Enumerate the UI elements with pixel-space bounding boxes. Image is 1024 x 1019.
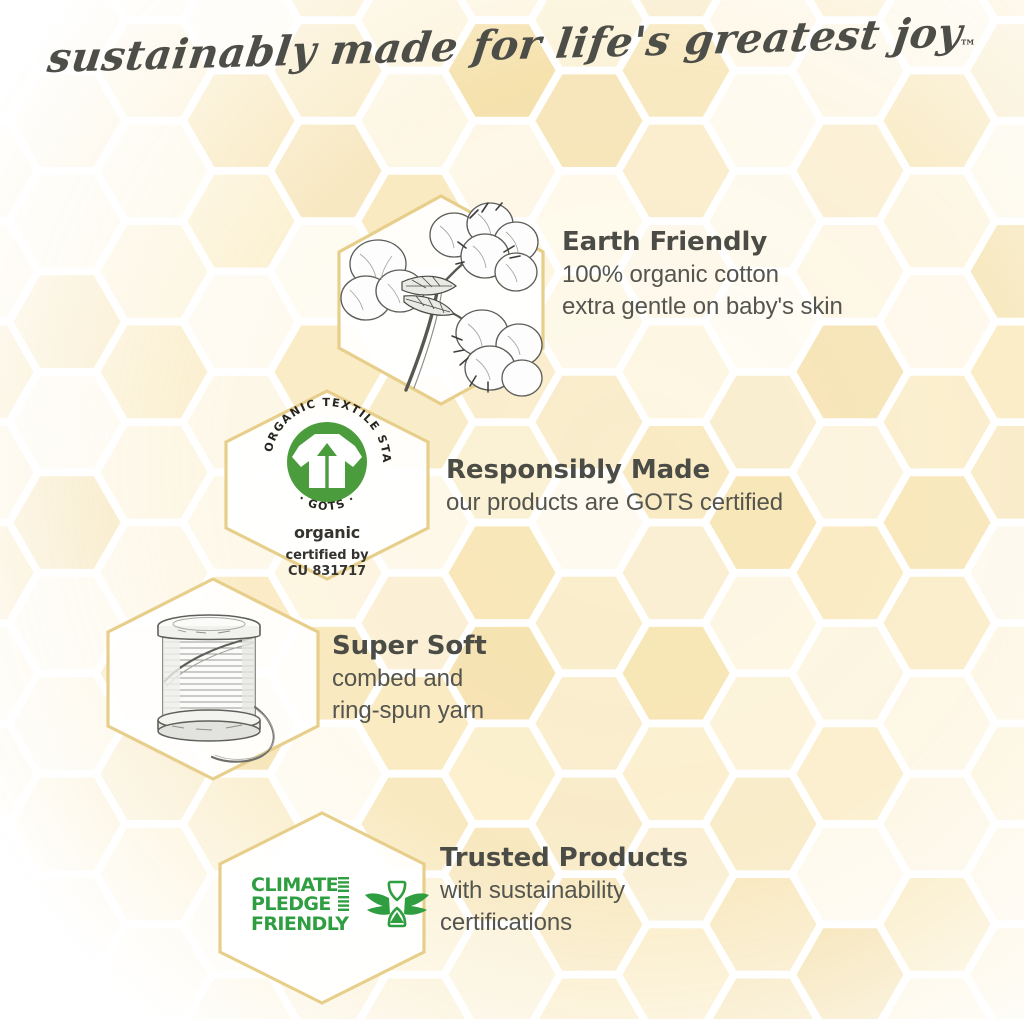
feature-text-block: Trusted Products with sustainability cer… xyxy=(440,842,688,939)
feature-text-block: Responsibly Made our products are GOTS c… xyxy=(446,454,783,519)
honeycomb-cell xyxy=(362,74,469,167)
feature-text-block: Earth Friendly 100% organic cotton extra… xyxy=(562,226,843,323)
honeycomb-cell xyxy=(14,778,121,871)
gots-organic-label: organic xyxy=(241,523,413,542)
honeycomb-cell xyxy=(0,627,34,720)
honeycomb-cell xyxy=(101,828,208,921)
feature-description-line: certifications xyxy=(440,907,688,939)
honeycomb-cell xyxy=(536,74,643,167)
thread-spool-sketch-icon xyxy=(100,574,326,784)
feature-earth-friendly: Earth Friendly 100% organic cotton extra… xyxy=(330,190,1024,410)
feature-trusted-products: CLIMATE PLEDGE xyxy=(212,808,1024,1008)
cpf-bars-icon xyxy=(338,877,349,892)
climate-pledge-wordmark: CLIMATE PLEDGE xyxy=(251,876,348,934)
honeycomb-cell xyxy=(14,979,121,1019)
gots-organic-certification-icon: GLOBAL ORGANIC TEXTILE STANDARD · GOTS ·… xyxy=(241,396,413,581)
honeycomb-cell xyxy=(0,0,34,16)
feature-description-line: combed and xyxy=(332,663,487,695)
honeycomb-cell xyxy=(14,878,121,971)
honeycomb-cell xyxy=(449,0,556,16)
headline-text: sustainably made for life's greatest joy xyxy=(45,9,966,82)
gots-seal: GLOBAL ORGANIC TEXTILE STANDARD · GOTS · xyxy=(241,396,413,516)
honeycomb-cell xyxy=(101,426,208,519)
honeycomb-cell xyxy=(188,175,295,268)
honeycomb-cell xyxy=(275,0,382,16)
trademark-symbol: ™ xyxy=(959,37,976,57)
honeycomb-cell xyxy=(14,175,121,268)
feature-description-line: with sustainability xyxy=(440,875,688,907)
honeycomb-cell xyxy=(0,928,34,1019)
feature-title: Trusted Products xyxy=(440,842,688,875)
honeycomb-cell xyxy=(971,0,1024,16)
winged-hourglass-icon xyxy=(364,876,430,934)
page-headline: sustainably made for life's greatest joy… xyxy=(0,34,1024,82)
feature-description-line: 100% organic cotton xyxy=(562,259,843,291)
sustainability-infographic: sustainably made for life's greatest joy… xyxy=(0,0,1024,1019)
honeycomb-cell xyxy=(0,426,34,519)
cpf-bars-icon xyxy=(338,896,349,911)
honeycomb-cell xyxy=(623,0,730,16)
feature-description-line: our products are GOTS certified xyxy=(446,487,783,519)
honeycomb-cell xyxy=(101,225,208,318)
honeycomb-cell xyxy=(710,74,817,167)
honeycomb-cell xyxy=(14,476,121,569)
honeycomb-cell xyxy=(14,376,121,469)
feature-description-line: extra gentle on baby's skin xyxy=(562,291,843,323)
cpf-line-3-text: FRIENDLY xyxy=(251,913,348,935)
honeycomb-cell xyxy=(884,74,991,167)
honeycomb-cell xyxy=(188,74,295,167)
honeycomb-cell xyxy=(0,125,34,218)
honeycomb-cell xyxy=(101,326,208,419)
honeycomb-cell xyxy=(0,326,34,419)
climate-pledge-friendly-icon: CLIMATE PLEDGE xyxy=(251,876,430,934)
feature-description-line: ring-spun yarn xyxy=(332,695,487,727)
honeycomb-cell xyxy=(188,275,295,368)
feature-title: Earth Friendly xyxy=(562,226,843,259)
honeycomb-cell xyxy=(101,0,208,16)
cpf-line-3: FRIENDLY xyxy=(251,915,348,934)
honeycomb-cell xyxy=(14,74,121,167)
cotton-boll-sketch-icon xyxy=(330,190,552,410)
feature-responsibly-made: GLOBAL ORGANIC TEXTILE STANDARD · GOTS ·… xyxy=(218,386,1024,586)
honeycomb-cell xyxy=(0,225,34,318)
honeycomb-cell xyxy=(101,125,208,218)
honeycomb-cell xyxy=(0,727,34,820)
honeycomb-cell xyxy=(0,828,34,921)
feature-text-block: Super Soft combed and ring-spun yarn xyxy=(332,630,487,727)
honeycomb-cell xyxy=(101,928,208,1019)
feature-title: Super Soft xyxy=(332,630,487,663)
feature-title: Responsibly Made xyxy=(446,454,783,487)
feature-super-soft: Super Soft combed and ring-spun yarn xyxy=(100,574,1024,784)
gots-certified-by-label: certified by xyxy=(241,548,413,564)
honeycomb-cell xyxy=(0,526,34,619)
honeycomb-cell xyxy=(14,275,121,368)
